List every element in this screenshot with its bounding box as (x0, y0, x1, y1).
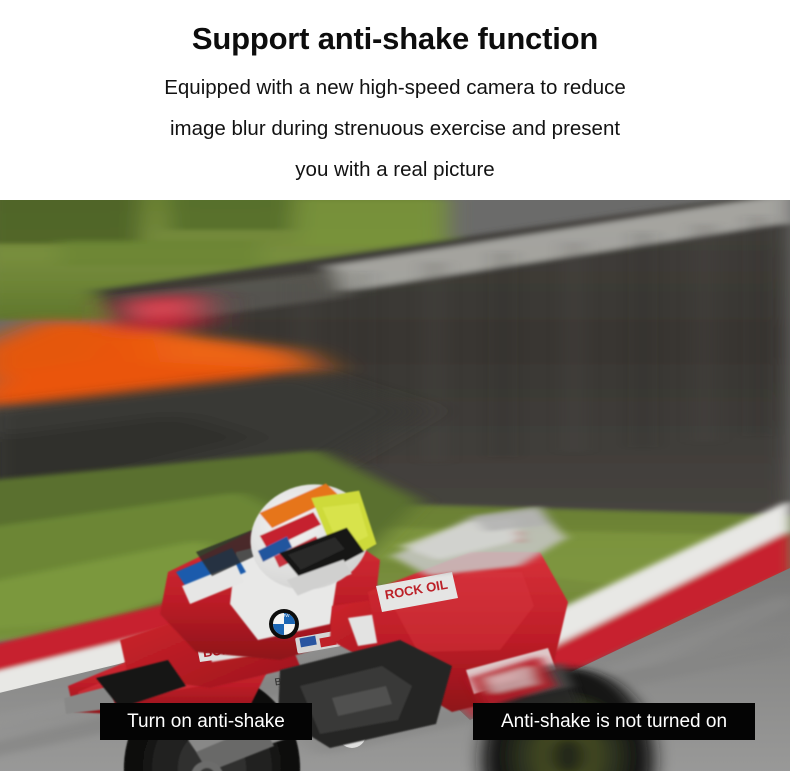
subtitle-line-1: Equipped with a new high-speed camera to… (0, 67, 790, 108)
caption-anti-shake-off: Anti-shake is not turned on (473, 703, 755, 740)
motorcycle-photo-illustration: bitubo BUILDBASE (0, 200, 790, 771)
caption-anti-shake-on: Turn on anti-shake (100, 703, 312, 740)
page-title: Support anti-shake function (0, 0, 790, 58)
product-feature-panel: Support anti-shake function Equipped wit… (0, 0, 790, 771)
page-subtitle: Equipped with a new high-speed camera to… (0, 58, 790, 190)
subtitle-line-3: you with a real picture (0, 149, 790, 190)
subtitle-line-2: image blur during strenuous exercise and… (0, 108, 790, 149)
photo-tone-overlay (0, 200, 790, 771)
header-text-block: Support anti-shake function Equipped wit… (0, 0, 790, 200)
motorcycle-photo: bitubo BUILDBASE (0, 200, 790, 771)
